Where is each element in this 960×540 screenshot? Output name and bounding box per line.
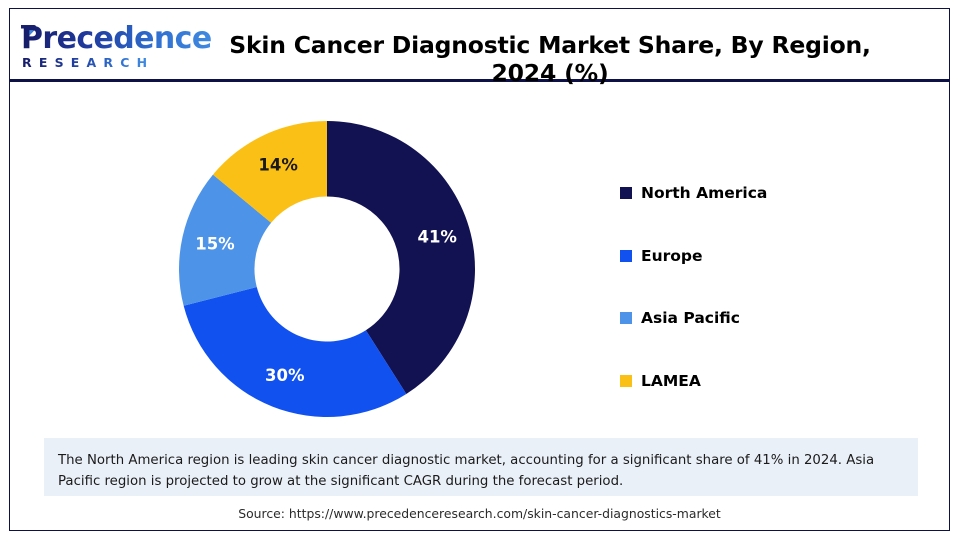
legend-swatch-north-america	[620, 187, 632, 199]
page-title: Skin Cancer Diagnostic Market Share, By …	[200, 31, 900, 87]
legend-item-north-america[interactable]: North America	[620, 162, 880, 225]
source-line: Source: https://www.precedenceresearch.c…	[10, 506, 949, 521]
legend-swatch-asia-pacific	[620, 312, 632, 324]
legend-label-lamea: LAMEA	[641, 372, 701, 390]
donut-chart: 41%30%15%14%	[177, 119, 477, 419]
legend-item-lamea[interactable]: LAMEA	[620, 350, 880, 413]
chart-area: 41%30%15%14% North America Europe Asia P…	[10, 82, 949, 437]
logo-brand-primary: Precedence	[21, 22, 212, 56]
legend-label-asia-pacific: Asia Pacific	[641, 309, 740, 327]
legend-swatch-lamea	[620, 375, 632, 387]
legend: North America Europe Asia Pacific LAMEA	[620, 162, 880, 412]
legend-label-europe: Europe	[641, 247, 703, 265]
chart-frame: Precedence RESEARCH Skin Cancer Diagnost…	[9, 8, 950, 531]
donut-slice-label: 30%	[265, 366, 305, 385]
donut-slice-label: 15%	[195, 234, 235, 253]
header: Precedence RESEARCH Skin Cancer Diagnost…	[10, 9, 949, 82]
donut-chart-svg: 41%30%15%14%	[177, 119, 477, 419]
donut-slice-label: 14%	[258, 156, 298, 175]
legend-item-asia-pacific[interactable]: Asia Pacific	[620, 287, 880, 350]
donut-slice-label: 41%	[417, 227, 457, 246]
legend-swatch-europe	[620, 250, 632, 262]
logo-brand-secondary: RESEARCH	[22, 55, 154, 70]
insight-note-box: The North America region is leading skin…	[44, 438, 918, 496]
insight-note-text: The North America region is leading skin…	[58, 450, 904, 492]
precedence-research-logo: Precedence RESEARCH	[15, 22, 175, 74]
donut-slice[interactable]	[184, 287, 407, 417]
legend-item-europe[interactable]: Europe	[620, 225, 880, 288]
legend-label-north-america: North America	[641, 184, 767, 202]
